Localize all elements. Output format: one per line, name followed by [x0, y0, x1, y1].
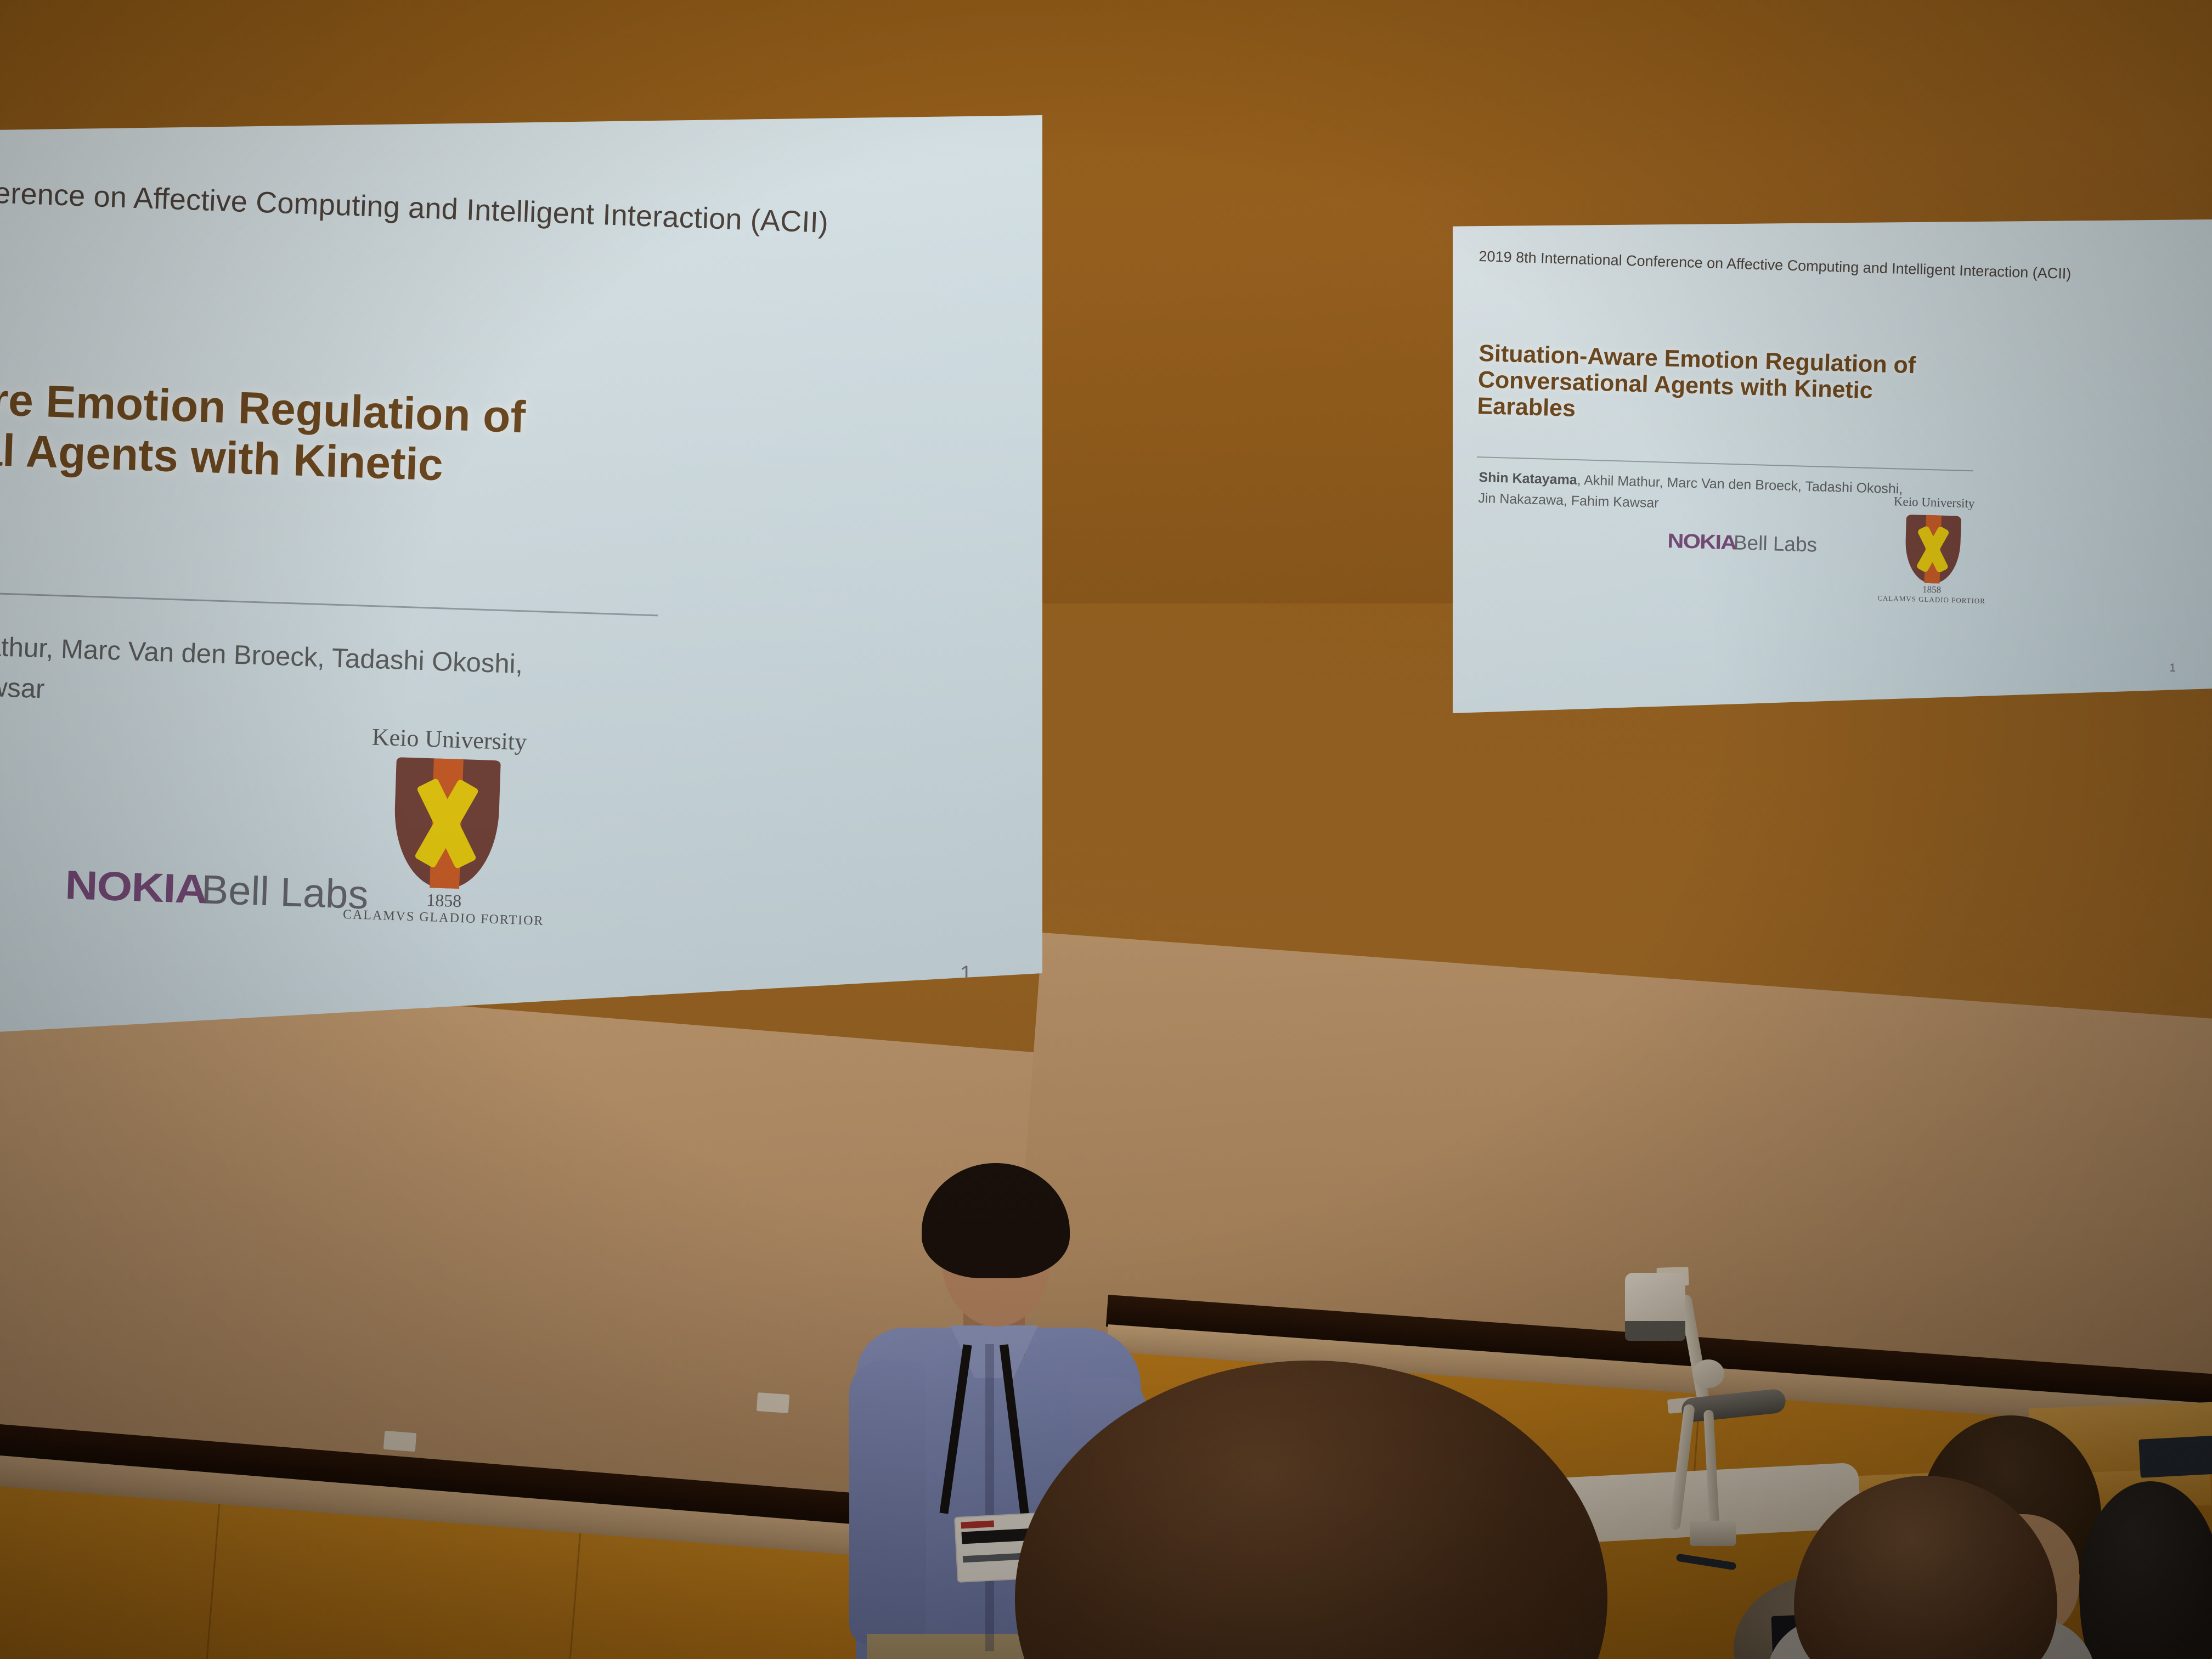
keio-university-name: Keio University — [1870, 494, 1998, 511]
keio-university-logo: Keio University 1858 CALAMVS GLADIO FORT… — [323, 721, 571, 929]
presenter-shirt-placket — [985, 1344, 994, 1651]
presenter-arm-left — [849, 1361, 926, 1646]
wall-outlet — [383, 1431, 416, 1452]
document-camera-joint — [1692, 1359, 1724, 1388]
nokia-bell-labs-logo: NOKIABell Labs — [1667, 529, 1818, 557]
nokia-wordmark: NOKIA — [64, 861, 207, 913]
slide-title: Situation-Aware Emotion Regulation of Co… — [1477, 340, 1934, 432]
slide-right: 2019 8th International Conference on Aff… — [1453, 219, 2212, 713]
keio-university-name: Keio University — [328, 721, 570, 758]
slide-left: 8th International Conference on Affectiv… — [0, 115, 1042, 1048]
conference-header: 2019 8th International Conference on Aff… — [1479, 248, 2072, 283]
nokia-wordmark: NOKIA — [1667, 529, 1736, 554]
keio-crest-icon — [392, 757, 501, 890]
keio-university-logo: Keio University 1858 CALAMVS GLADIO FORT… — [1867, 494, 1997, 606]
title-divider — [0, 583, 658, 616]
notebook-on-desk — [2138, 1435, 2212, 1478]
projection-screen-right: 2019 8th International Conference on Aff… — [1453, 219, 2212, 713]
slide-title: Situation-Aware Emotion Regulation of Co… — [0, 365, 625, 547]
presenting-author: Shin Katayama — [1479, 470, 1577, 488]
bell-labs-wordmark: Bell Labs — [1733, 531, 1817, 556]
document-camera-base — [1690, 1521, 1736, 1546]
slide-page-number: 1 — [2169, 662, 2176, 675]
wall-outlet — [757, 1392, 789, 1413]
keio-crest-icon — [1905, 515, 1961, 584]
conference-header: 8th International Conference on Affectiv… — [0, 166, 829, 240]
author-list: Shin Katayama, Akhil Mathur, Marc Van de… — [0, 617, 669, 730]
lecture-hall-photo: 8th International Conference on Affectiv… — [0, 0, 2212, 1659]
document-camera-lens-housing — [1625, 1321, 1685, 1341]
projection-screen-left: 8th International Conference on Affectiv… — [0, 115, 1042, 1048]
